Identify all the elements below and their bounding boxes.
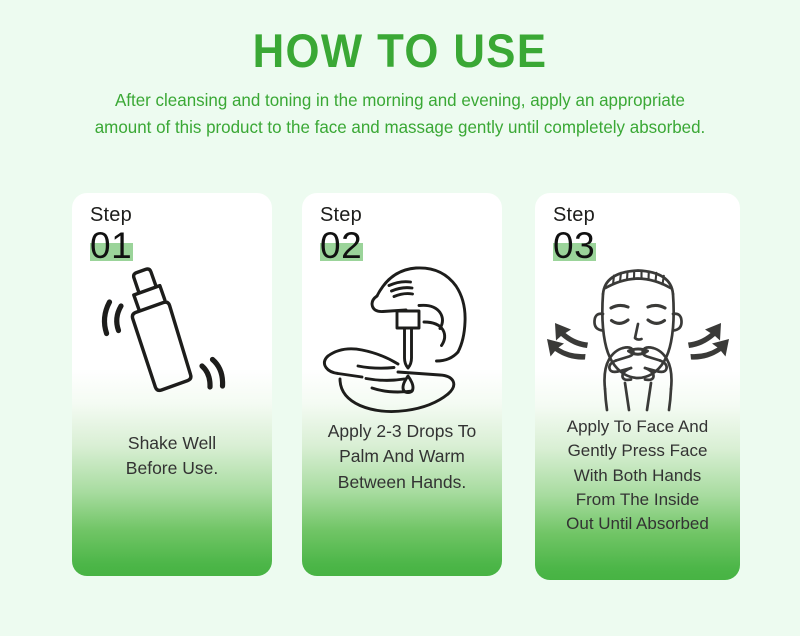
step-illustration-01 <box>72 261 272 421</box>
step-word-02: Step <box>320 204 362 226</box>
step-illustration-02 <box>302 255 502 420</box>
caption-line: Between Hands. <box>310 470 494 495</box>
face-massage-hands-icon <box>543 250 733 415</box>
step-card-01: Step 01 <box>72 193 272 576</box>
step-card-02: Step 02 <box>302 193 502 576</box>
step-number-02: 02 <box>320 225 362 266</box>
caption-line: Apply To Face And <box>543 415 732 439</box>
subtitle-line-1: After cleansing and toning in the mornin… <box>46 87 754 114</box>
step-number-group-03: 03 <box>553 227 595 266</box>
caption-line: With Both Hands <box>543 464 732 488</box>
page-header: HOW TO USE After cleansing and toning in… <box>0 0 800 142</box>
steps-container: Step 01 <box>0 193 800 583</box>
step-number-01: 01 <box>90 225 132 266</box>
caption-line: Apply 2-3 Drops To <box>310 419 494 444</box>
caption-line: Shake Well <box>80 431 264 456</box>
step-number-group-01: 01 <box>90 227 132 266</box>
arrow-left-group <box>547 323 588 360</box>
page-title: HOW TO USE <box>28 26 772 75</box>
arrow-right-group <box>688 323 729 360</box>
caption-line: Out Until Absorbed <box>543 512 732 536</box>
dropper-over-palm-icon <box>320 260 485 415</box>
step-label-group-03: Step 03 <box>553 204 595 266</box>
step-card-03: Step 03 <box>535 193 740 580</box>
caption-line: Before Use. <box>80 456 264 481</box>
step-word-01: Step <box>90 204 132 226</box>
caption-line: Palm And Warm <box>310 444 494 469</box>
step-caption-01: Shake Well Before Use. <box>72 431 272 482</box>
caption-line: Gently Press Face <box>543 439 732 463</box>
subtitle-line-2: amount of this product to the face and m… <box>46 114 754 141</box>
step-illustration-03 <box>535 247 740 417</box>
step-word-03: Step <box>553 204 595 226</box>
step-caption-02: Apply 2-3 Drops To Palm And Warm Between… <box>302 419 502 495</box>
step-caption-03: Apply To Face And Gently Press Face With… <box>535 415 740 536</box>
step-number-group-02: 02 <box>320 227 362 266</box>
dropper-bottle-shaking-icon <box>97 266 247 416</box>
step-label-group-02: Step 02 <box>320 204 362 266</box>
caption-line: From The Inside <box>543 488 732 512</box>
step-number-03: 03 <box>553 225 595 266</box>
page-subtitle: After cleansing and toning in the mornin… <box>46 87 754 141</box>
step-label-group-01: Step 01 <box>90 204 132 266</box>
